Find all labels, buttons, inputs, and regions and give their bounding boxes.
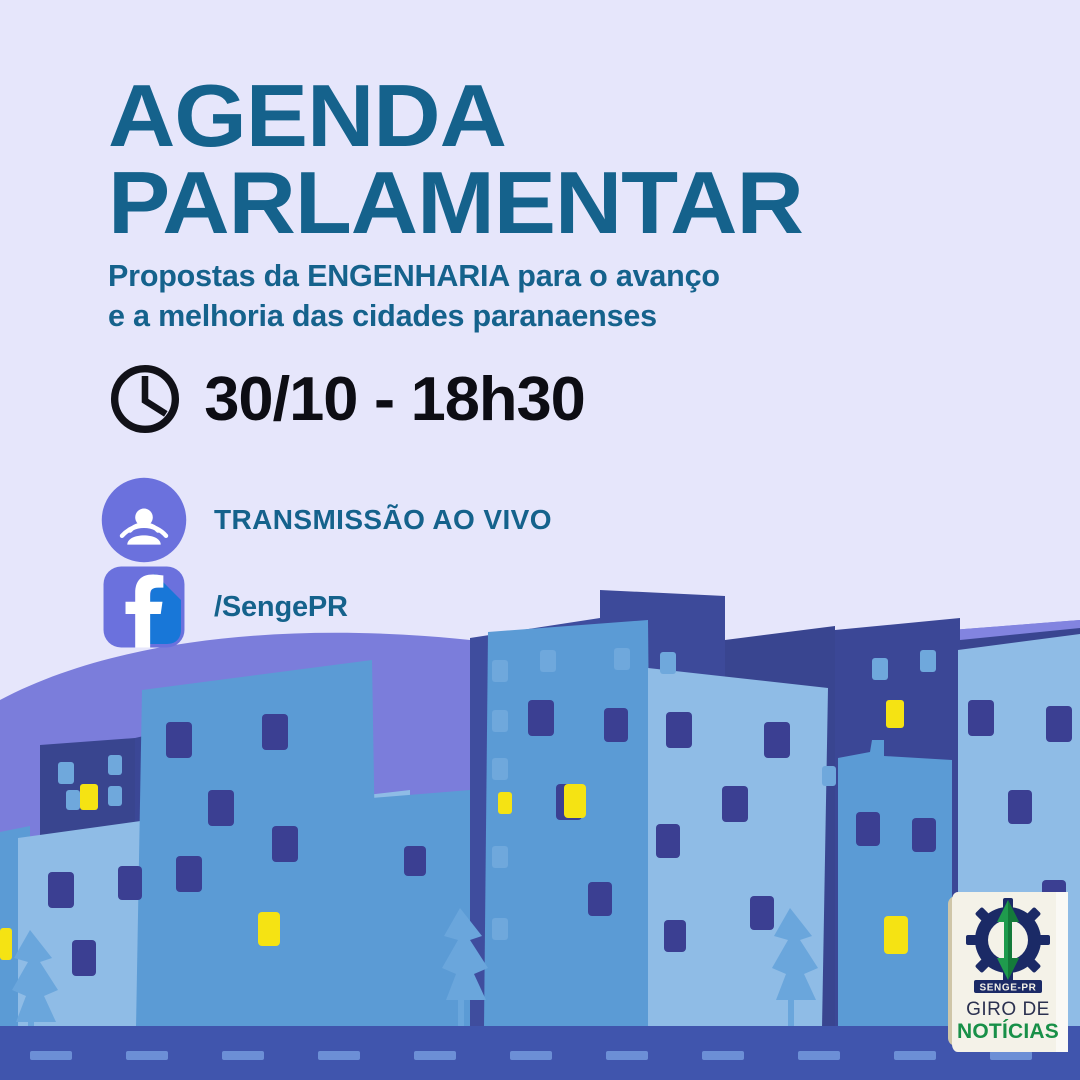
road xyxy=(0,1026,1080,1080)
giro-de-noticias-badge: SENGE-PR GIRO DE NOTÍCIAS xyxy=(944,888,1072,1060)
poster-canvas: AGENDA PARLAMENTAR Propostas da ENGENHAR… xyxy=(0,0,1080,1080)
senge-pr-gear-logo xyxy=(966,898,1050,982)
senge-pr-logo-text: SENGE-PR xyxy=(979,983,1036,994)
badge-line2: NOTÍCIAS xyxy=(957,1020,1059,1043)
senge-pr-wordmark: SENGE-PR xyxy=(974,980,1042,994)
cityscape-illustration xyxy=(0,0,1080,1080)
badge-line1: GIRO DE xyxy=(966,999,1050,1020)
